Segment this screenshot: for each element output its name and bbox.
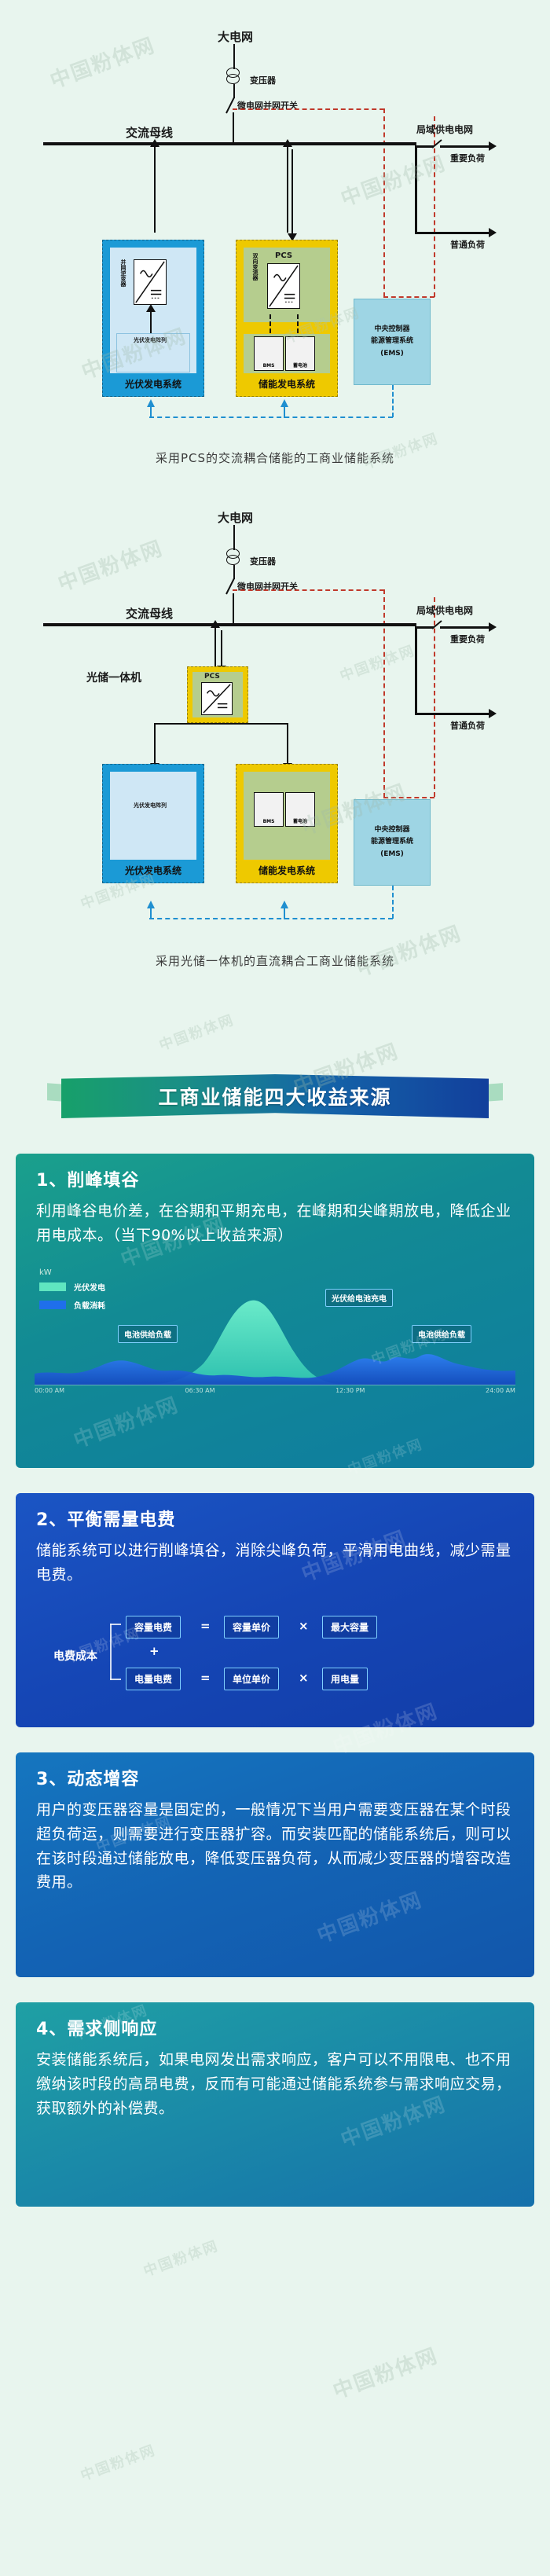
- label-pv-array-2: 光伏发电阵列: [134, 802, 167, 809]
- hybrid-inverter-symbol: [201, 682, 233, 715]
- label-pv-inverter: 并网逆变器: [119, 259, 127, 287]
- card-4-heading: 4、需求侧响应: [16, 2002, 534, 2045]
- critical-load-wire: [440, 145, 489, 148]
- card-3-body: 用户的变压器容量是固定的，一般情况下当用户需要变压器在某个时段超负荷运，则需要进…: [16, 1795, 534, 1910]
- battery-box-2: 蓄电池: [285, 792, 315, 827]
- local-grid-bottom-branch-2: [415, 713, 434, 715]
- label-ac-bus-2: 交流母线: [126, 605, 173, 622]
- annotation-pv-charges-battery: 光伏给电池充电: [325, 1289, 393, 1307]
- card-3-number: 3、: [36, 1770, 67, 1789]
- card-3-title: 动态增容: [67, 1770, 139, 1789]
- pv-inverter-symbol: [134, 259, 167, 305]
- ems-line-1-2: 中央控制器: [374, 825, 409, 836]
- bms-box-2: BMS: [254, 792, 284, 827]
- caption-storage-system-2: 储能发电系统: [236, 864, 338, 877]
- card-4-number: 4、: [36, 2020, 67, 2039]
- label-local-grid: 局域供电电网: [416, 123, 473, 136]
- card-peak-shaving: 1、削峰填谷 利用峰谷电价差，在谷期和平期充电，在峰期和尖峰期放电，降低企业用电…: [16, 1154, 534, 1468]
- card-2-number: 2、: [36, 1510, 67, 1530]
- label-bms: BMS: [263, 363, 275, 369]
- wire-grid-to-transformer: [233, 44, 235, 69]
- chart-x-ticks: 00:00 AM 06:30 AM 12:30 PM 24:00 AM: [35, 1387, 515, 1398]
- formula-brace-top: [110, 1624, 121, 1625]
- pv-array-to-inverter-wire: [150, 311, 152, 333]
- label-ac-bus: 交流母线: [126, 124, 173, 141]
- dc-link-storage: [287, 723, 288, 764]
- normal-load-wire: [434, 232, 489, 234]
- banner-title: 工商业储能四大收益来源: [158, 1082, 391, 1110]
- control-path-bottom-2: [383, 797, 434, 798]
- label-grid-2: 大电网: [218, 509, 253, 526]
- control-path-bottom: [383, 296, 434, 298]
- local-grid-riser-2: [415, 626, 417, 714]
- wire-transformer-to-switch-2: [233, 565, 235, 579]
- caption-storage-system: 储能发电系统: [236, 377, 338, 391]
- watermark: 中国粉体网: [141, 2235, 222, 2281]
- formula-times-top: ×: [299, 1619, 309, 1633]
- formula-equals-top: =: [200, 1619, 211, 1633]
- comms-bus-to-ems: [392, 385, 394, 417]
- pcs-symbol: [267, 263, 300, 309]
- card-demand-response: 4、需求侧响应 安装储能系统后，如果电网发出需求响应，客户可以不用限电、也不用缴…: [16, 2002, 534, 2207]
- ems-line-3: (EMS): [380, 349, 404, 360]
- comms-arrow-storage-icon: [280, 399, 289, 418]
- card-demand-charge: 2、平衡需量电费 储能系统可以进行削峰填谷，消除尖峰负荷，平滑用电曲线，减少需量…: [16, 1493, 534, 1727]
- ems-line-3-2: (EMS): [380, 849, 404, 861]
- card-3-heading: 3、动态增容: [16, 1752, 534, 1795]
- control-path-vertical: [383, 108, 385, 297]
- control-path-top: [233, 108, 384, 110]
- formula-capacity-unit-price: 容量单价: [224, 1616, 279, 1638]
- ac-bus-bar-2: [43, 623, 416, 626]
- wire-grid-to-transformer-2: [233, 525, 235, 550]
- label-local-grid-2: 局域供电电网: [416, 604, 473, 617]
- label-bms-2: BMS: [263, 819, 275, 824]
- label-pcs-2: PCS: [204, 673, 220, 681]
- diagram1-caption: 采用PCS的交流耦合储能的工商业储能系统: [0, 450, 550, 466]
- x-tick-0: 00:00 AM: [35, 1387, 64, 1398]
- load-pv-chart: kW 光伏发电 负载消耗: [35, 1268, 515, 1398]
- label-hybrid-unit: 光储一体机: [86, 670, 141, 685]
- pcs-battery-link-b: [297, 314, 299, 333]
- label-normal-load-2: 普通负荷: [450, 719, 485, 732]
- formula-max-capacity: 最大容量: [322, 1616, 377, 1638]
- card-2-heading: 2、平衡需量电费: [16, 1493, 534, 1536]
- formula-plus: +: [149, 1644, 159, 1658]
- comms-arrow-pv-icon: [146, 399, 156, 418]
- card-1-heading: 1、削峰填谷: [16, 1154, 534, 1196]
- label-critical-load: 重要负荷: [450, 152, 485, 164]
- label-pcs: PCS: [275, 251, 292, 260]
- ems-line-2-2: 能源管理系统: [371, 837, 413, 848]
- formula-equals-bottom: =: [200, 1671, 211, 1685]
- bms-box: BMS: [254, 336, 284, 371]
- local-grid-bottom-branch: [415, 232, 434, 234]
- pv-system-inner-2: [110, 772, 196, 860]
- formula-capacity-fee: 容量电费: [126, 1616, 181, 1638]
- label-critical-load-2: 重要负荷: [450, 633, 485, 645]
- ems-box-2: 中央控制器 能源管理系统 (EMS): [354, 799, 431, 886]
- pcs-down-wire: [291, 149, 293, 234]
- comms-bus-horizontal-2: [149, 918, 393, 919]
- card-1-body: 利用峰谷电价差，在谷期和平期充电，在峰期和尖峰期放电，降低企业用电成本。（当下9…: [16, 1196, 534, 1264]
- card-dynamic-capacity: 3、动态增容 用户的变压器容量是固定的，一般情况下当用户需要变压器在某个时段超负…: [16, 1752, 534, 1977]
- diagram-dc-coupled: 大电网 变压器 微电网并网开关 交流母线 局域供电电网 重要负荷 普通负荷 光储…: [0, 487, 550, 998]
- dc-link-pv: [154, 723, 156, 764]
- diagram-ac-coupled: 大电网 变压器 微电网并网开关 交流母线 局域供电电网: [0, 0, 550, 472]
- ems-line-1: 中央控制器: [374, 325, 409, 336]
- label-bidirectional-converter: 双向变流器: [251, 253, 259, 281]
- card-2-body: 储能系统可以进行削峰填谷，消除尖峰负荷，平滑用电曲线，减少需量电费。: [16, 1536, 534, 1603]
- annotation-battery-supplies-load-right: 电池供给负载: [412, 1325, 471, 1343]
- transformer-icon: [226, 68, 240, 84]
- pcs-riser-wire: [287, 146, 288, 233]
- pv-riser-wire: [154, 146, 156, 233]
- card-2-title: 平衡需量电费: [67, 1510, 175, 1530]
- comms-bus-to-ems-2: [392, 886, 394, 919]
- comms-bus-horizontal: [149, 416, 393, 418]
- label-battery-2: 蓄电池: [293, 817, 307, 824]
- formula-brace-vertical: [110, 1624, 112, 1680]
- caption-pv-system: 光伏发电系统: [102, 377, 204, 391]
- wire-transformer-to-switch: [233, 84, 235, 98]
- pcs-battery-link-a: [269, 314, 271, 333]
- formula-unit-price: 单位单价: [224, 1668, 279, 1690]
- x-tick-1: 06:30 AM: [185, 1387, 215, 1398]
- formula-times-bottom: ×: [299, 1671, 309, 1685]
- ribbon-body: 工商业储能四大收益来源: [61, 1074, 489, 1118]
- x-tick-2: 12:30 PM: [335, 1387, 365, 1398]
- chart-x-axis: [35, 1385, 515, 1385]
- ems-line-2: 能源管理系统: [371, 336, 413, 347]
- caption-pv-system-2: 光伏发电系统: [102, 864, 204, 877]
- dc-bus-horizontal: [154, 723, 288, 725]
- critical-load-wire-2: [440, 626, 489, 629]
- formula-energy-fee: 电量电费: [126, 1668, 181, 1690]
- comms-arrow-storage-icon-2: [280, 901, 289, 919]
- card-1-title: 削峰填谷: [67, 1171, 139, 1191]
- comms-arrow-pv-icon-2: [146, 901, 156, 919]
- local-grid-riser: [415, 145, 417, 233]
- wire-switch-to-bus: [233, 112, 234, 143]
- annotation-battery-supplies-load-left: 电池供给负载: [118, 1325, 178, 1343]
- card-1-number: 1、: [36, 1171, 67, 1191]
- watermark: 中国粉体网: [156, 1009, 237, 1055]
- x-tick-3: 24:00 AM: [486, 1387, 515, 1398]
- formula-brace-bottom: [110, 1679, 121, 1680]
- wire-switch-to-bus-2: [233, 593, 234, 624]
- battery-box: 蓄电池: [285, 336, 315, 371]
- section-banner: 工商业储能四大收益来源: [0, 1065, 550, 1136]
- card-4-body: 安装储能系统后，如果电网发出需求响应，客户可以不用限电、也不用缴纳该时段的高昂电…: [16, 2045, 534, 2136]
- normal-load-wire-2: [434, 713, 489, 715]
- label-transformer-2: 变压器: [250, 555, 276, 567]
- electricity-cost-formula: 电费成本 容量电费 + 电量电费 = = 容量单价 × 最大容量 单位单价 × …: [31, 1609, 519, 1702]
- formula-cost-label: 电费成本: [46, 1644, 105, 1668]
- control-path-vertical-2: [383, 589, 385, 798]
- formula-usage: 用电量: [322, 1668, 368, 1690]
- label-battery: 蓄电池: [293, 361, 307, 369]
- card-4-title: 需求侧响应: [67, 2020, 157, 2039]
- watermark: 中国粉体网: [78, 2439, 159, 2486]
- hybrid-down-wire: [221, 630, 222, 666]
- diagram2-caption: 采用光储一体机的直流耦合工商业储能系统: [0, 952, 550, 969]
- control-path-top-2: [233, 589, 384, 591]
- label-normal-load: 普通负荷: [450, 238, 485, 251]
- label-grid: 大电网: [218, 28, 253, 45]
- ems-box: 中央控制器 能源管理系统 (EMS): [354, 299, 431, 385]
- label-transformer: 变压器: [250, 74, 276, 86]
- transformer-icon-2: [226, 549, 240, 565]
- watermark: 中国粉体网: [328, 2339, 442, 2405]
- hybrid-riser-wire: [214, 627, 216, 666]
- label-pv-array: 光伏发电阵列: [134, 336, 167, 344]
- chart-y-unit: kW: [39, 1268, 52, 1277]
- ac-bus-bar: [43, 142, 416, 145]
